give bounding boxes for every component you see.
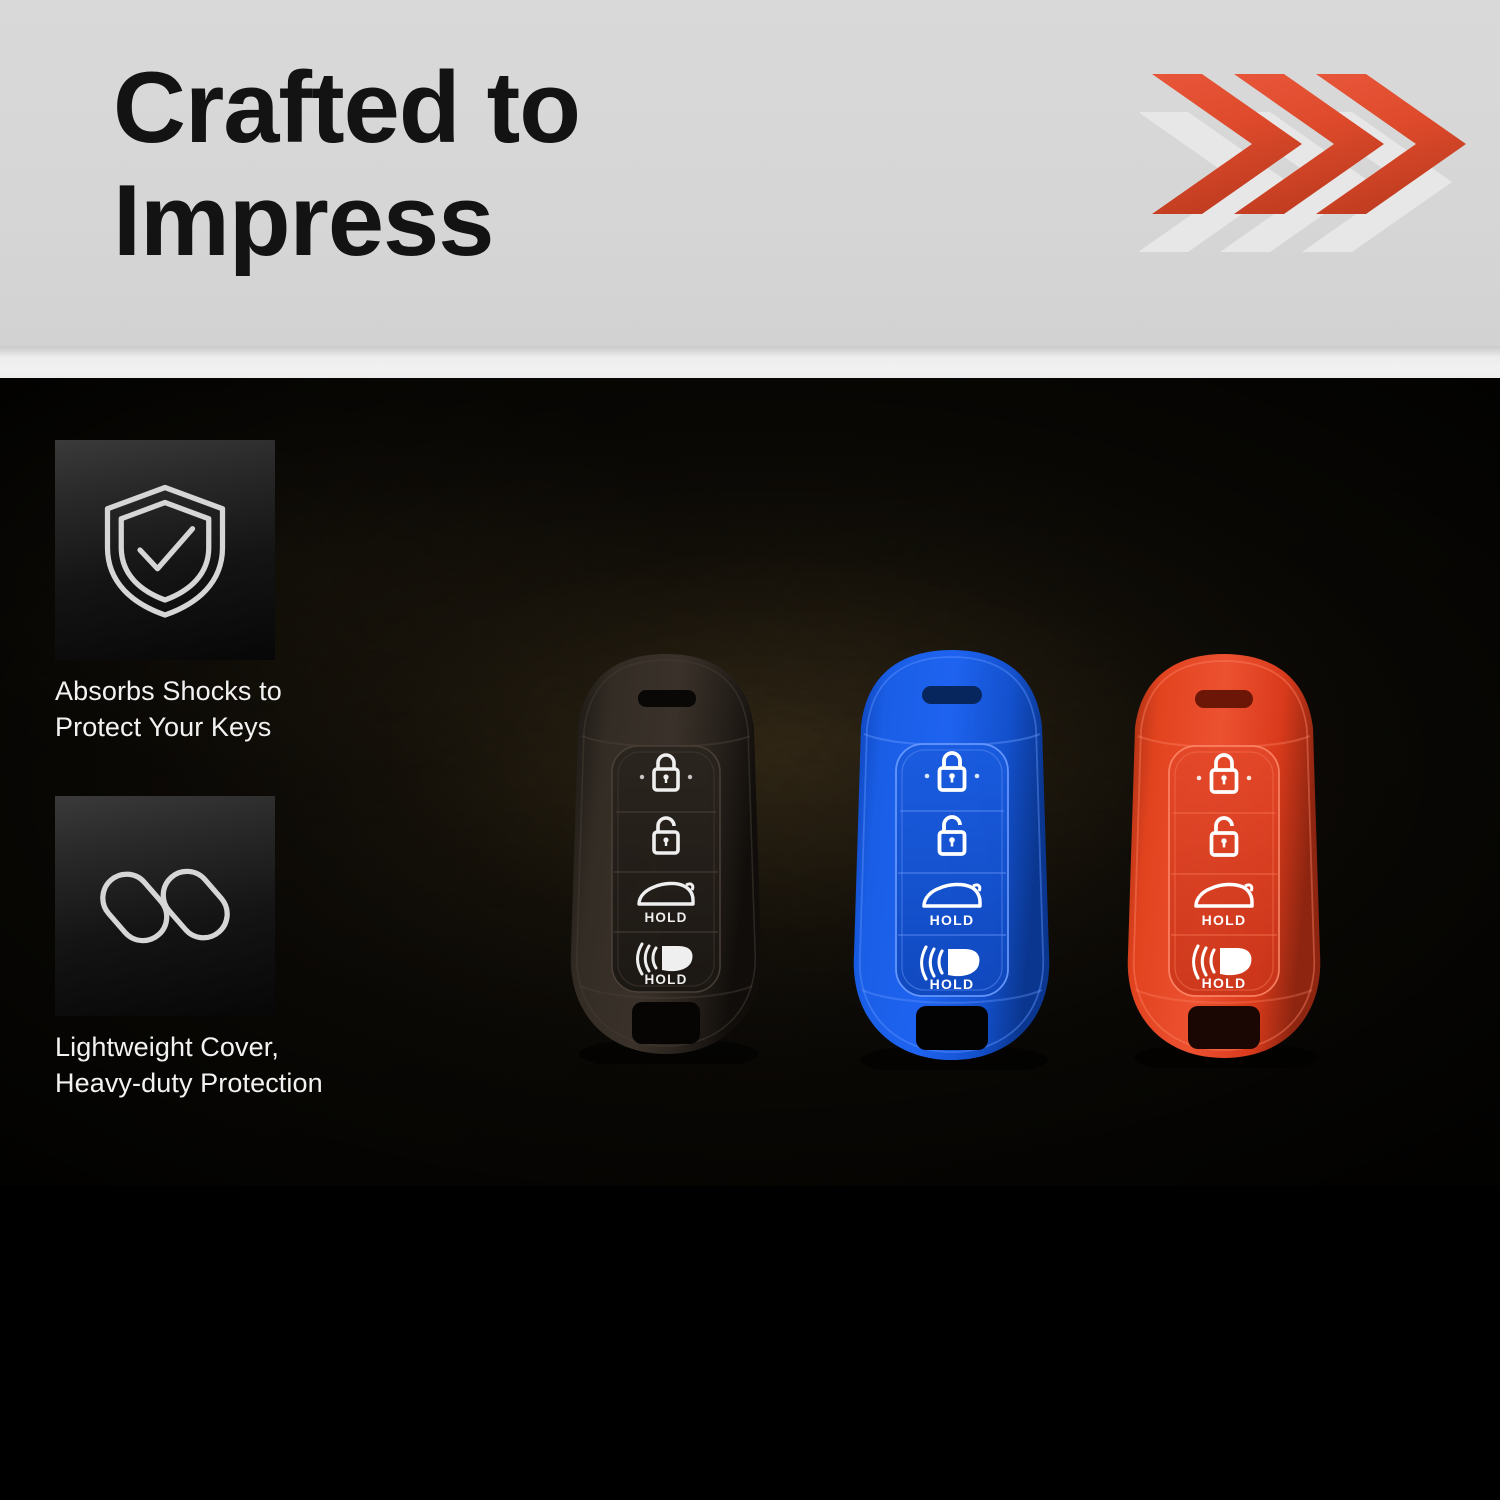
key-fob-red: HOLD HOLD xyxy=(1122,650,1326,1068)
svg-text:HOLD: HOLD xyxy=(930,912,975,928)
svg-text:HOLD: HOLD xyxy=(1202,912,1247,928)
svg-text:HOLD: HOLD xyxy=(644,972,687,987)
svg-text:HOLD: HOLD xyxy=(644,910,687,925)
chevron-right-triple-icon xyxy=(1140,62,1470,302)
svg-text:HOLD: HOLD xyxy=(930,976,975,992)
feature-caption-2: Lightweight Cover, Heavy-duty Protection xyxy=(55,1030,415,1102)
svg-text:HOLD: HOLD xyxy=(1202,975,1247,991)
shield-check-icon xyxy=(55,440,275,660)
feature-caption-1: Absorbs Shocks to Protect Your Keys xyxy=(55,674,385,746)
key-fob-black: HOLD HOLD xyxy=(566,650,766,1064)
header-divider xyxy=(0,346,1500,378)
chain-link-icon xyxy=(55,796,275,1016)
footer-band: PERFECT FIT. MAX PROTECTION. StandardAut… xyxy=(0,1186,1500,1500)
product-photo: Absorbs Shocks to Protect Your Keys Ligh… xyxy=(0,378,1500,1186)
page-title: Crafted to Impress xyxy=(113,52,873,278)
product-infographic: Crafted to Impress xyxy=(0,0,1500,1500)
key-fob-blue: HOLD HOLD xyxy=(848,646,1056,1070)
header-banner: Crafted to Impress xyxy=(0,0,1500,346)
